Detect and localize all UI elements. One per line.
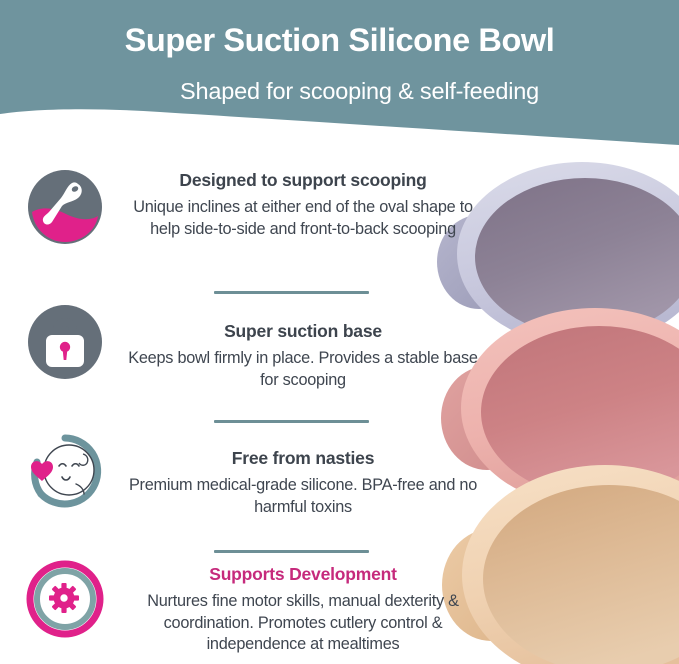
baby-heart-icon (26, 432, 104, 510)
header-banner: Super Suction Silicone Bowl Shaped for s… (0, 0, 679, 160)
feature-title: Supports Development (118, 564, 488, 585)
header-shape (0, 0, 679, 145)
feature-body: Keeps bowl firmly in place. Provides a s… (118, 348, 488, 391)
feature-body: Nurtures fine motor skills, manual dexte… (118, 591, 488, 656)
feature-copy: Free from nasties Premium medical-grade … (118, 448, 488, 518)
feature-copy: Supports Development Nurtures fine motor… (118, 564, 488, 656)
section-divider (214, 291, 369, 294)
feature-title: Free from nasties (118, 448, 488, 469)
head-gear-icon (26, 560, 104, 638)
padlock-icon (26, 303, 104, 381)
feature-body: Unique inclines at either end of the ova… (118, 197, 488, 240)
feature-copy: Super suction base Keeps bowl firmly in … (118, 321, 488, 391)
section-divider (214, 420, 369, 423)
feature-copy: Designed to support scooping Unique incl… (118, 170, 488, 240)
product-infographic: Super Suction Silicone Bowl Shaped for s… (0, 0, 679, 664)
spoon-bowl-icon (26, 168, 104, 246)
section-divider (214, 550, 369, 553)
feature-title: Designed to support scooping (118, 170, 488, 191)
feature-title: Super suction base (118, 321, 488, 342)
feature-body: Premium medical-grade silicone. BPA-free… (118, 475, 488, 518)
